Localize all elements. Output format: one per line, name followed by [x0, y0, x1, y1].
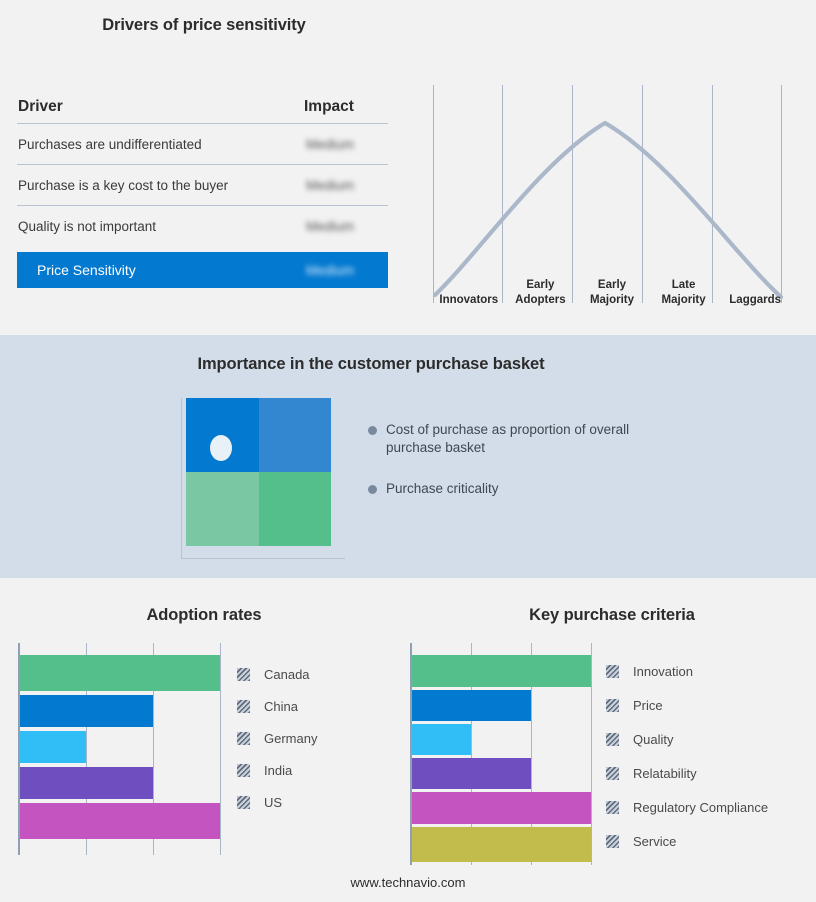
- key-purchase-criteria-title: Key purchase criteria: [408, 606, 816, 625]
- legend-label: Regulatory Compliance: [633, 800, 768, 815]
- price-sensitivity-summary-row: Price Sensitivity Medium: [17, 252, 388, 288]
- legend-label: Innovation: [633, 664, 693, 679]
- hatch-swatch-icon: [606, 801, 619, 814]
- legend-label: China: [264, 699, 298, 714]
- driver-impact: Medium: [296, 219, 388, 234]
- driver-name: Quality is not important: [17, 219, 296, 234]
- importance-legend-label: Purchase criticality: [386, 481, 499, 496]
- bar-canada: [20, 655, 220, 691]
- lifecycle-segment-early-adopters: Early Adopters: [505, 272, 577, 308]
- legend-item-quality: Quality: [606, 722, 768, 756]
- legend-item-us: US: [237, 786, 317, 818]
- table-row: Purchases are undifferentiated Medium: [17, 124, 388, 165]
- legend-item-germany: Germany: [237, 722, 317, 754]
- legend-label: Canada: [264, 667, 310, 682]
- adoption-rates-title: Adoption rates: [0, 606, 408, 625]
- bar-price: [412, 690, 531, 721]
- importance-legend-item-2: Purchase criticality: [368, 480, 499, 498]
- column-header-impact: Impact: [296, 98, 388, 116]
- quadrant-y-axis: [181, 398, 182, 558]
- table-row: Quality is not important Medium: [17, 206, 388, 247]
- legend-item-china: China: [237, 690, 317, 722]
- key-purchase-criteria-chart: [410, 643, 592, 865]
- hatch-swatch-icon: [237, 732, 250, 745]
- chart-gridline: [591, 643, 592, 865]
- legend-label: Germany: [264, 731, 317, 746]
- lifecycle-segment-labels: Innovators Early Adopters Early Majority…: [433, 272, 791, 308]
- adoption-rates-legend: Canada China Germany India US: [237, 658, 317, 818]
- quadrant-bottom-right: [259, 472, 332, 546]
- segment-line1: Early: [505, 278, 577, 293]
- quadrant-position-marker: [210, 435, 232, 461]
- legend-item-relatability: Relatability: [606, 756, 768, 790]
- bar-relatability: [412, 758, 531, 789]
- bar-service: [412, 827, 591, 862]
- summary-impact: Medium: [296, 263, 388, 278]
- segment-line2: Innovators: [433, 293, 505, 308]
- legend-item-india: India: [237, 754, 317, 786]
- impact-value-redacted: Medium: [306, 137, 354, 152]
- key-purchase-criteria-legend: Innovation Price Quality Relatability Re…: [606, 654, 768, 858]
- importance-panel-title: Importance in the customer purchase bask…: [0, 355, 742, 374]
- hatch-swatch-icon: [237, 700, 250, 713]
- footer-url: www.technavio.com: [0, 875, 816, 890]
- driver-name: Purchase is a key cost to the buyer: [17, 178, 296, 193]
- segment-line2: Laggards: [719, 293, 791, 308]
- bar-quality: [412, 724, 471, 755]
- legend-label: Quality: [633, 732, 673, 747]
- legend-label: Relatability: [633, 766, 697, 781]
- legend-item-regulatory-compliance: Regulatory Compliance: [606, 790, 768, 824]
- impact-value-redacted: Medium: [306, 178, 354, 193]
- hatch-swatch-icon: [606, 699, 619, 712]
- driver-impact: Medium: [296, 137, 388, 152]
- segment-line2: Majority: [576, 293, 648, 308]
- segment-line2: Adopters: [505, 293, 577, 308]
- driver-name: Purchases are undifferentiated: [17, 137, 296, 152]
- hatch-swatch-icon: [237, 764, 250, 777]
- bar-china: [20, 695, 153, 727]
- drivers-panel-title: Drivers of price sensitivity: [0, 16, 408, 35]
- lifecycle-segment-laggards: Laggards: [719, 272, 791, 308]
- bar-innovation: [412, 655, 591, 687]
- bullet-icon: [368, 426, 377, 435]
- importance-legend-item-1: Cost of purchase as proportion of overal…: [368, 421, 643, 457]
- adoption-rates-chart: [18, 643, 228, 855]
- hatch-swatch-icon: [606, 733, 619, 746]
- legend-item-price: Price: [606, 688, 768, 722]
- bar-germany: [20, 731, 86, 763]
- importance-legend-label: Cost of purchase as proportion of overal…: [386, 422, 629, 455]
- legend-label: Price: [633, 698, 663, 713]
- legend-label: US: [264, 795, 282, 810]
- quadrant-bottom-left: [186, 472, 259, 546]
- impact-value-redacted: Medium: [306, 219, 354, 234]
- lifecycle-segment-late-majority: Late Majority: [648, 272, 720, 308]
- lifecycle-segment-innovators: Innovators: [433, 272, 505, 308]
- segment-line1: Early: [576, 278, 648, 293]
- infographic-page: Drivers of price sensitivity Driver Impa…: [0, 0, 816, 902]
- drivers-table-header-row: Driver Impact: [17, 90, 388, 124]
- bullet-icon: [368, 485, 377, 494]
- hatch-swatch-icon: [606, 835, 619, 848]
- legend-item-innovation: Innovation: [606, 654, 768, 688]
- hatch-swatch-icon: [237, 796, 250, 809]
- importance-quadrant-matrix: [186, 398, 331, 546]
- hatch-swatch-icon: [237, 668, 250, 681]
- drivers-panel: Drivers of price sensitivity Driver Impa…: [0, 0, 408, 335]
- legend-label: India: [264, 763, 292, 778]
- segment-line1: Late: [648, 278, 720, 293]
- driver-impact: Medium: [296, 178, 388, 193]
- legend-item-service: Service: [606, 824, 768, 858]
- hatch-swatch-icon: [606, 767, 619, 780]
- bar-india: [20, 767, 153, 799]
- lifecycle-segment-early-majority: Early Majority: [576, 272, 648, 308]
- impact-value-redacted: Medium: [306, 263, 354, 278]
- legend-label: Service: [633, 834, 676, 849]
- hatch-swatch-icon: [606, 665, 619, 678]
- column-header-driver: Driver: [17, 98, 296, 116]
- bar-regulatory-compliance: [412, 792, 591, 824]
- legend-item-canada: Canada: [237, 658, 317, 690]
- quadrant-x-axis: [181, 558, 345, 559]
- bar-us: [20, 803, 220, 839]
- drivers-table: Driver Impact Purchases are undifferenti…: [17, 90, 388, 288]
- chart-gridline: [220, 643, 221, 855]
- quadrant-top-right: [259, 398, 332, 472]
- table-row: Purchase is a key cost to the buyer Medi…: [17, 165, 388, 206]
- summary-label: Price Sensitivity: [17, 262, 296, 278]
- adoption-lifecycle-panel: Adoption lifecycle Innovators Early Adop…: [408, 0, 816, 335]
- segment-line2: Majority: [648, 293, 720, 308]
